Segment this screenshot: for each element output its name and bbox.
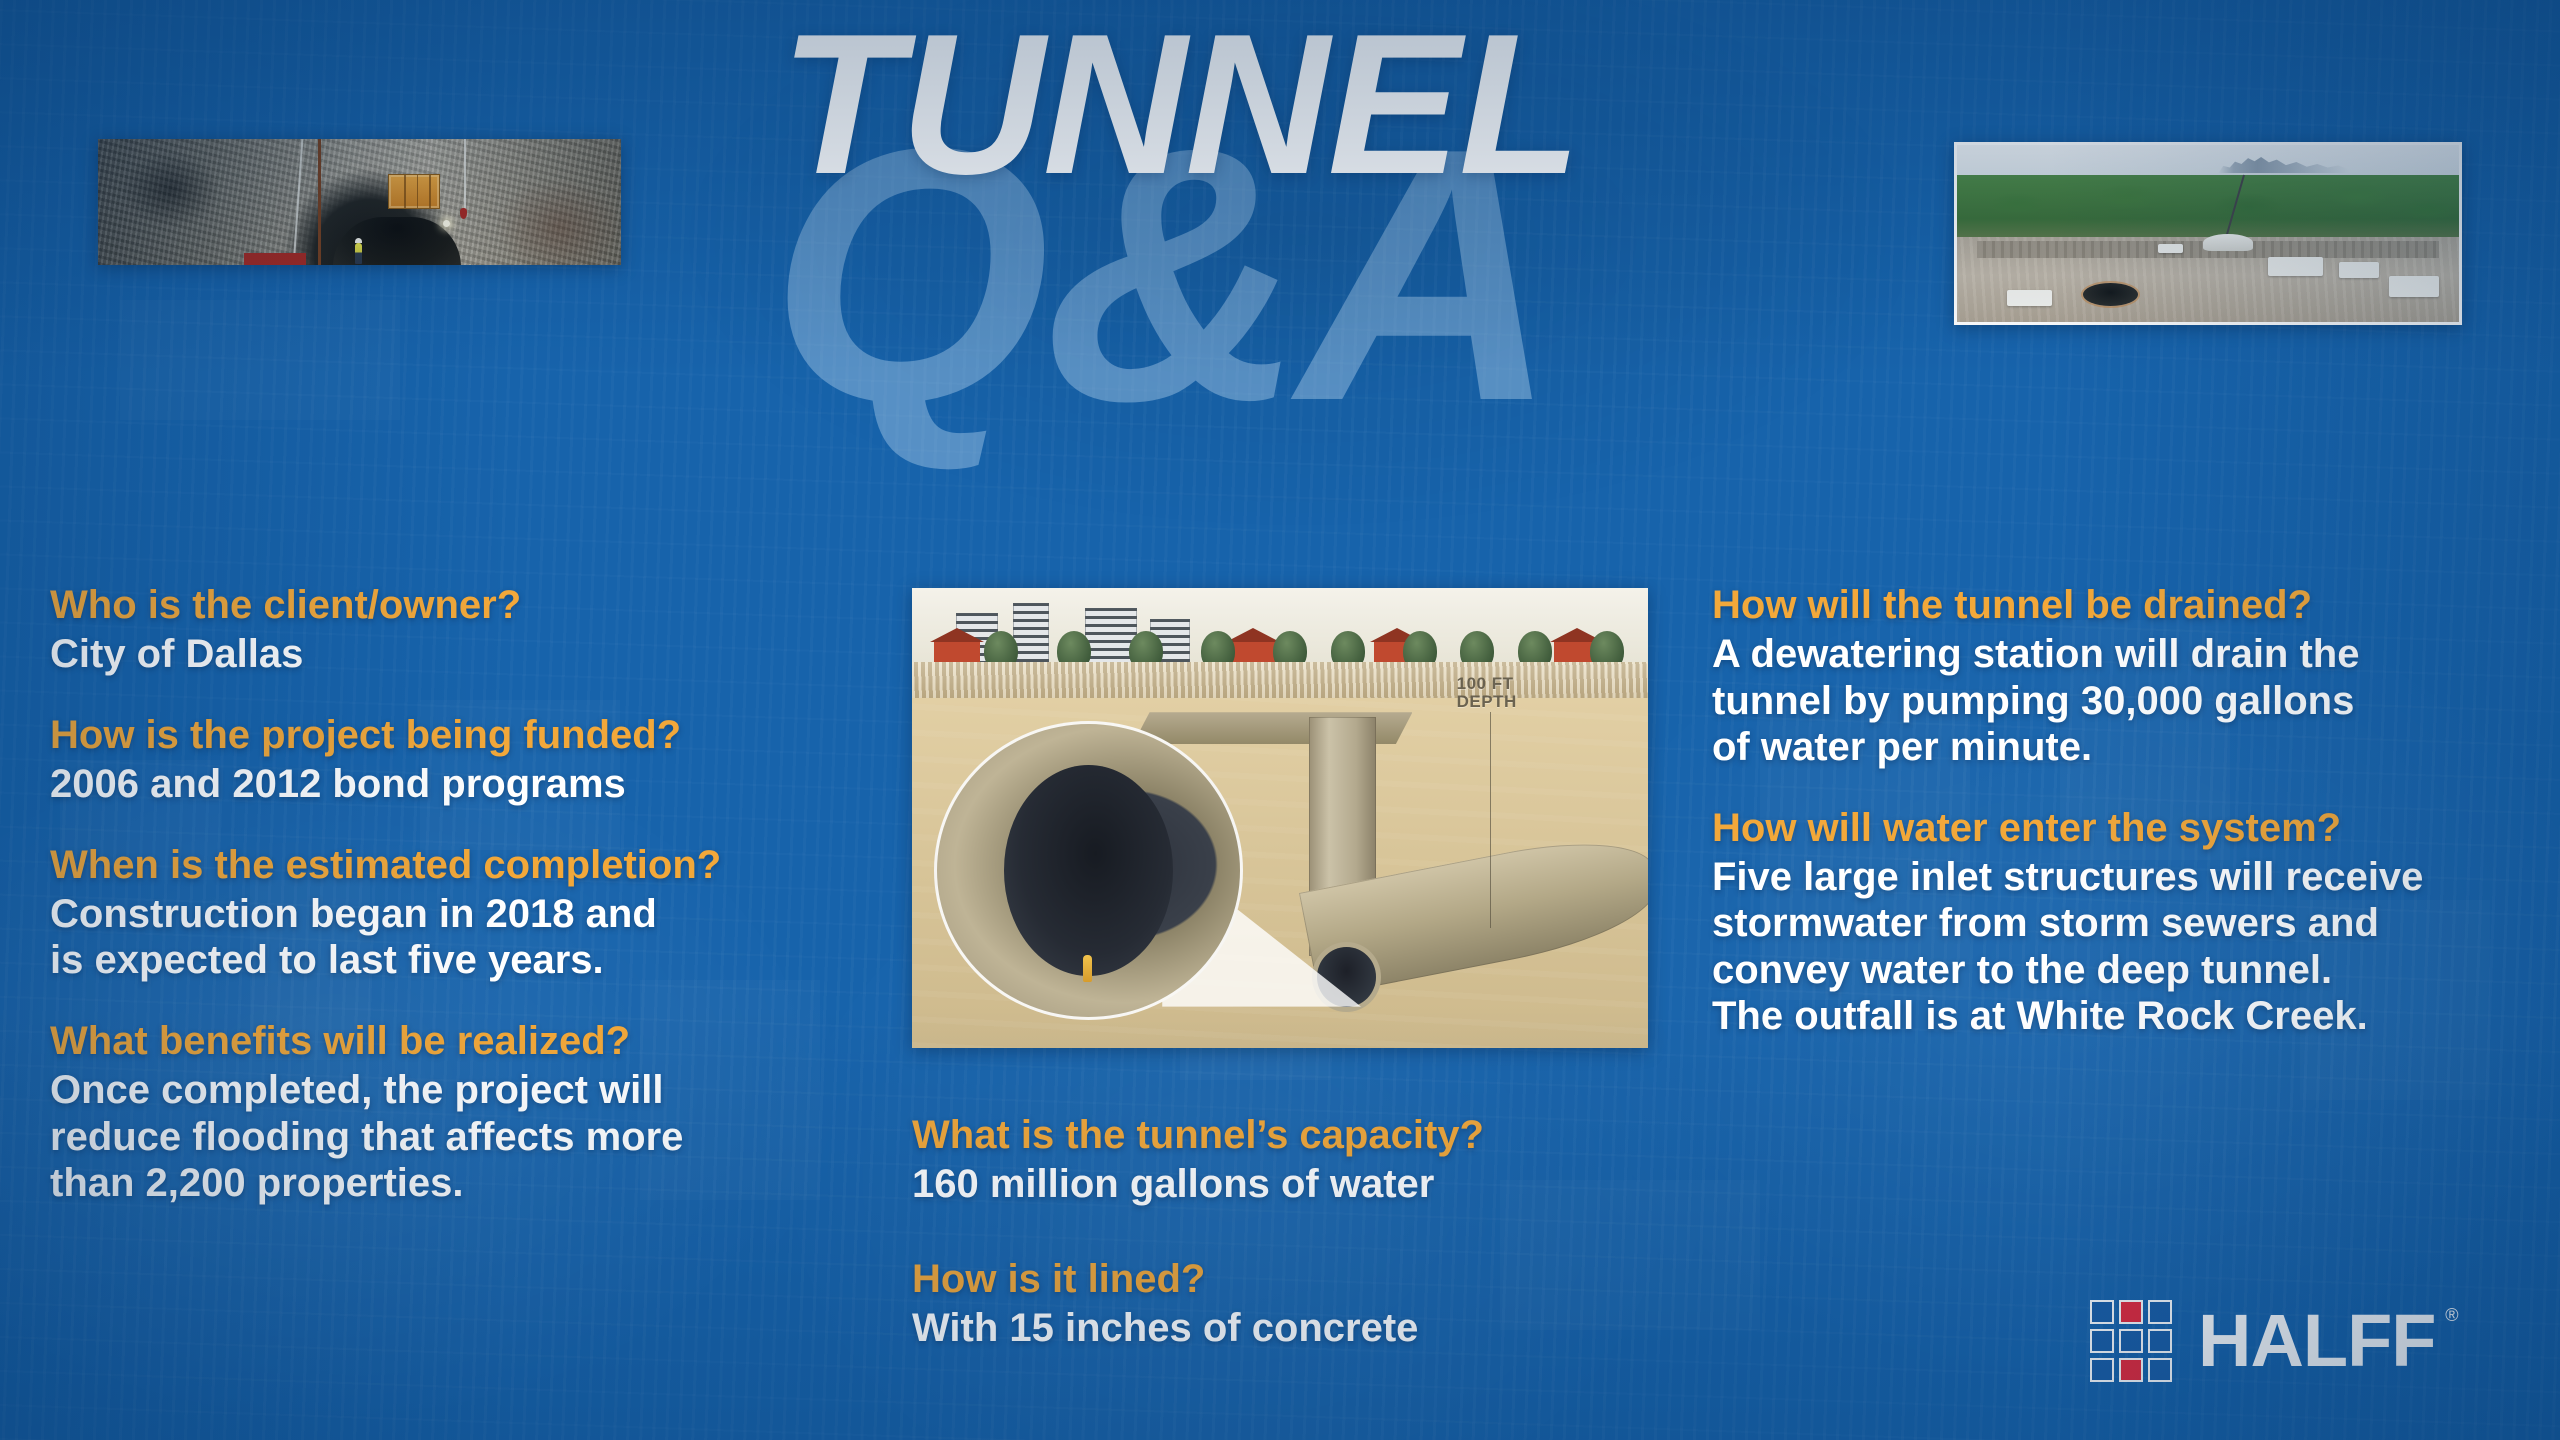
- scale-person: [1083, 955, 1092, 982]
- qa-column-right: How will the tunnel be drained?A dewater…: [1712, 582, 2542, 1040]
- halff-wordmark: HALFF ®: [2198, 1304, 2436, 1378]
- page-title: TUNNEL: [780, 5, 1579, 205]
- conduit-line: [318, 139, 321, 265]
- qa-answer-line: With 15 inches of concrete: [912, 1305, 1652, 1351]
- shaft-opening: [2083, 283, 2138, 306]
- qa-answer-line: tunnel by pumping 30,000 gallons: [1712, 678, 2542, 724]
- halff-grid-cell-blue: [2090, 1300, 2114, 1324]
- depth-indicator-line: [1490, 712, 1491, 928]
- aerial-construction-site-photo: [1954, 142, 2462, 325]
- qa-question: What benefits will be realized?: [50, 1018, 860, 1064]
- qa-answer-line: A dewatering station will drain the: [1712, 631, 2542, 677]
- qa-answer-line: Construction began in 2018 and: [50, 891, 860, 937]
- qa-answer-line: 2006 and 2012 bond programs: [50, 761, 860, 807]
- aerial-scene: [1957, 145, 2459, 322]
- qa-question: How will the tunnel be drained?: [1712, 582, 2542, 628]
- halff-grid-cell-red: [2119, 1300, 2143, 1324]
- qa-question: When is the estimated completion?: [50, 842, 860, 888]
- halff-logo: HALFF ®: [2090, 1300, 2436, 1382]
- qa-question: How is it lined?: [912, 1256, 1652, 1302]
- qa-answer: A dewatering station will drain thetunne…: [1712, 631, 2542, 770]
- halff-grid-cell-blue: [2090, 1329, 2114, 1353]
- qa-answer-line: reduce flooding that affects more: [50, 1114, 860, 1160]
- qa-answer-line: convey water to the deep tunnel.: [1712, 947, 2542, 993]
- depth-label-line1: 100 FT: [1457, 675, 1517, 693]
- qa-answer: Construction began in 2018 andis expecte…: [50, 891, 860, 984]
- poster-root: Q&A TUNNEL: [0, 0, 2560, 1440]
- qa-block: How will the tunnel be drained?A dewater…: [1712, 582, 2542, 771]
- halff-grid-cell-red: [2119, 1358, 2143, 1382]
- halff-grid-icon: [2090, 1300, 2172, 1382]
- tunnel-cutaway-rendering: 100 FT DEPTH: [912, 588, 1648, 1048]
- tunnel-portal-photo: [98, 139, 621, 265]
- qa-answer-line: Five large inlet structures will receive: [1712, 854, 2542, 900]
- equipment-trailer: [2007, 290, 2052, 306]
- qa-answer: 2006 and 2012 bond programs: [50, 761, 860, 807]
- qa-block: Who is the client/owner?City of Dallas: [50, 582, 860, 678]
- work-light: [443, 220, 450, 227]
- qa-answer-line: 160 million gallons of water: [912, 1161, 1652, 1207]
- equipment-tank-3: [2389, 276, 2439, 297]
- orange-cage: [388, 174, 440, 209]
- qa-column-left: Who is the client/owner?City of DallasHo…: [50, 582, 860, 1206]
- qa-block: When is the estimated completion?Constru…: [50, 842, 860, 984]
- halff-wordmark-text: HALFF: [2198, 1299, 2436, 1382]
- registered-trademark-icon: ®: [2445, 1306, 2457, 1324]
- tunnel-cross-section-inset: [934, 721, 1243, 1020]
- qa-block: How is the project being funded?2006 and…: [50, 712, 860, 808]
- hanging-wire: [464, 139, 466, 215]
- equipment-tank-2: [2339, 262, 2379, 278]
- equipment-vehicle: [2158, 244, 2183, 253]
- halff-grid-cell-blue: [2119, 1329, 2143, 1353]
- qa-block: What benefits will be realized?Once comp…: [50, 1018, 860, 1207]
- dome-structure: [2203, 234, 2253, 252]
- qa-answer: Five large inlet structures will receive…: [1712, 854, 2542, 1040]
- qa-answer: 160 million gallons of water: [912, 1161, 1652, 1207]
- render-scene: 100 FT DEPTH: [912, 588, 1648, 1048]
- red-equipment: [244, 253, 306, 265]
- halff-grid-cell-blue: [2148, 1300, 2172, 1324]
- halff-grid-cell-blue: [2148, 1358, 2172, 1382]
- qa-answer: City of Dallas: [50, 631, 860, 677]
- qa-answer-line: is expected to last five years.: [50, 937, 860, 983]
- qa-answer-line: City of Dallas: [50, 631, 860, 677]
- qa-block: How is it lined?With 15 inches of concre…: [912, 1256, 1652, 1352]
- qa-answer-line: stormwater from storm sewers and: [1712, 900, 2542, 946]
- qa-answer-line: The outfall is at White Rock Creek.: [1712, 993, 2542, 1039]
- tunnel-bore: [1004, 765, 1174, 976]
- depth-label: 100 FT DEPTH: [1457, 675, 1517, 711]
- qa-answer: With 15 inches of concrete: [912, 1305, 1652, 1351]
- qa-answer-line: of water per minute.: [1712, 724, 2542, 770]
- ground-surface: [912, 662, 1648, 699]
- qa-answer-line: Once completed, the project will: [50, 1067, 860, 1113]
- qa-question: What is the tunnel’s capacity?: [912, 1112, 1652, 1158]
- qa-answer-line: than 2,200 properties.: [50, 1160, 860, 1206]
- qa-block: How will water enter the system?Five lar…: [1712, 805, 2542, 1040]
- equipment-tank-1: [2268, 257, 2323, 276]
- qa-question: How is the project being funded?: [50, 712, 860, 758]
- qa-block: What is the tunnel’s capacity?160 millio…: [912, 1112, 1652, 1208]
- render-skyline: [927, 597, 1648, 671]
- qa-question: Who is the client/owner?: [50, 582, 860, 628]
- halff-grid-cell-blue: [2090, 1358, 2114, 1382]
- worker-figure: [355, 243, 362, 264]
- qa-column-center: What is the tunnel’s capacity?160 millio…: [912, 1112, 1652, 1400]
- halff-grid-cell-blue: [2148, 1329, 2172, 1353]
- qa-answer: Once completed, the project willreduce f…: [50, 1067, 860, 1206]
- qa-question: How will water enter the system?: [1712, 805, 2542, 851]
- depth-label-line2: DEPTH: [1457, 693, 1517, 711]
